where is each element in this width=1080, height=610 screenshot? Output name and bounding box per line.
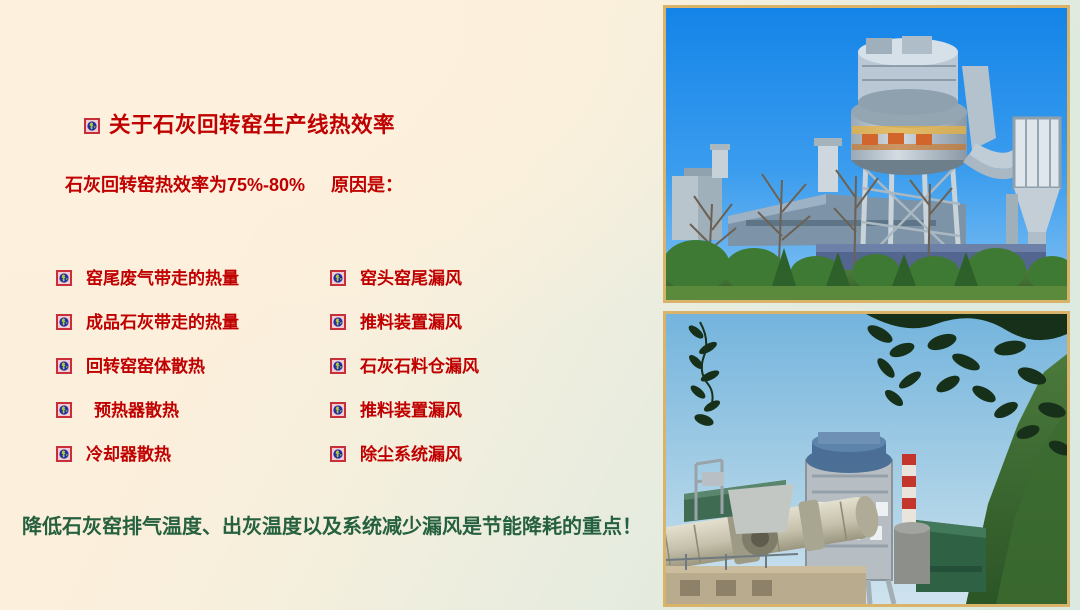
globe-icon [330,270,346,286]
list-item-label: 窑尾废气带走的热量 [86,270,239,287]
list-item-label: 预热器散热 [86,402,179,419]
list-item[interactable]: 石灰石料仓漏风 [330,344,479,388]
globe-icon [330,402,346,418]
globe-icon [56,270,72,286]
list-item[interactable]: 冷却器散热 [56,432,239,476]
globe-icon [56,358,72,374]
list-item[interactable]: 窑尾废气带走的热量 [56,256,239,300]
heat-loss-column-right: 窑头窑尾漏风 推料装置漏风 石灰石料仓漏风 [330,256,479,476]
list-item[interactable]: 成品石灰带走的热量 [56,300,239,344]
globe-icon [330,314,346,330]
globe-icon [56,446,72,462]
slide-title: 关于石灰回转窑生产线热效率 [84,115,395,137]
subtitle-reason-text: 原因是： [331,175,403,195]
subtitle-efficiency-text: 石灰回转窑热效率为75%-80% [65,175,305,195]
list-item-label: 回转窑窑体散热 [86,358,205,375]
globe-icon [56,402,72,418]
list-item-label: 除尘系统漏风 [360,446,462,463]
list-item[interactable]: 推料装置漏风 [330,300,479,344]
list-item-label: 冷却器散热 [86,446,171,463]
conclusion-text: 降低石灰窑排气温度、出灰温度以及系统减少漏风是节能降耗的重点！ [22,517,642,537]
list-item-label: 推料装置漏风 [360,402,462,419]
slide-title-text: 关于石灰回转窑生产线热效率 [109,115,395,137]
list-item-label: 石灰石料仓漏风 [360,358,479,375]
globe-icon [330,446,346,462]
globe-icon [330,358,346,374]
lime-plant-vertical-mill-photo [663,5,1070,303]
list-item[interactable]: 窑头窑尾漏风 [330,256,479,300]
list-item[interactable]: 回转窑窑体散热 [56,344,239,388]
list-item-label: 推料装置漏风 [360,314,462,331]
list-item-label: 成品石灰带走的热量 [86,314,239,331]
list-item-label: 窑头窑尾漏风 [360,270,462,287]
heat-loss-column-left: 窑尾废气带走的热量 成品石灰带走的热量 回转窑窑体散热 [56,256,239,476]
globe-icon [56,314,72,330]
list-item[interactable]: 推料装置漏风 [330,388,479,432]
globe-icon [84,118,100,134]
list-item[interactable]: 除尘系统漏风 [330,432,479,476]
subtitle: 石灰回转窑热效率为75%-80%原因是： [65,176,403,194]
rotary-kiln-preheater-photo [663,311,1070,607]
list-item[interactable]: 预热器散热 [56,388,239,432]
slide-canvas: 关于石灰回转窑生产线热效率 石灰回转窑热效率为75%-80%原因是： 窑尾废气带… [0,0,1080,610]
